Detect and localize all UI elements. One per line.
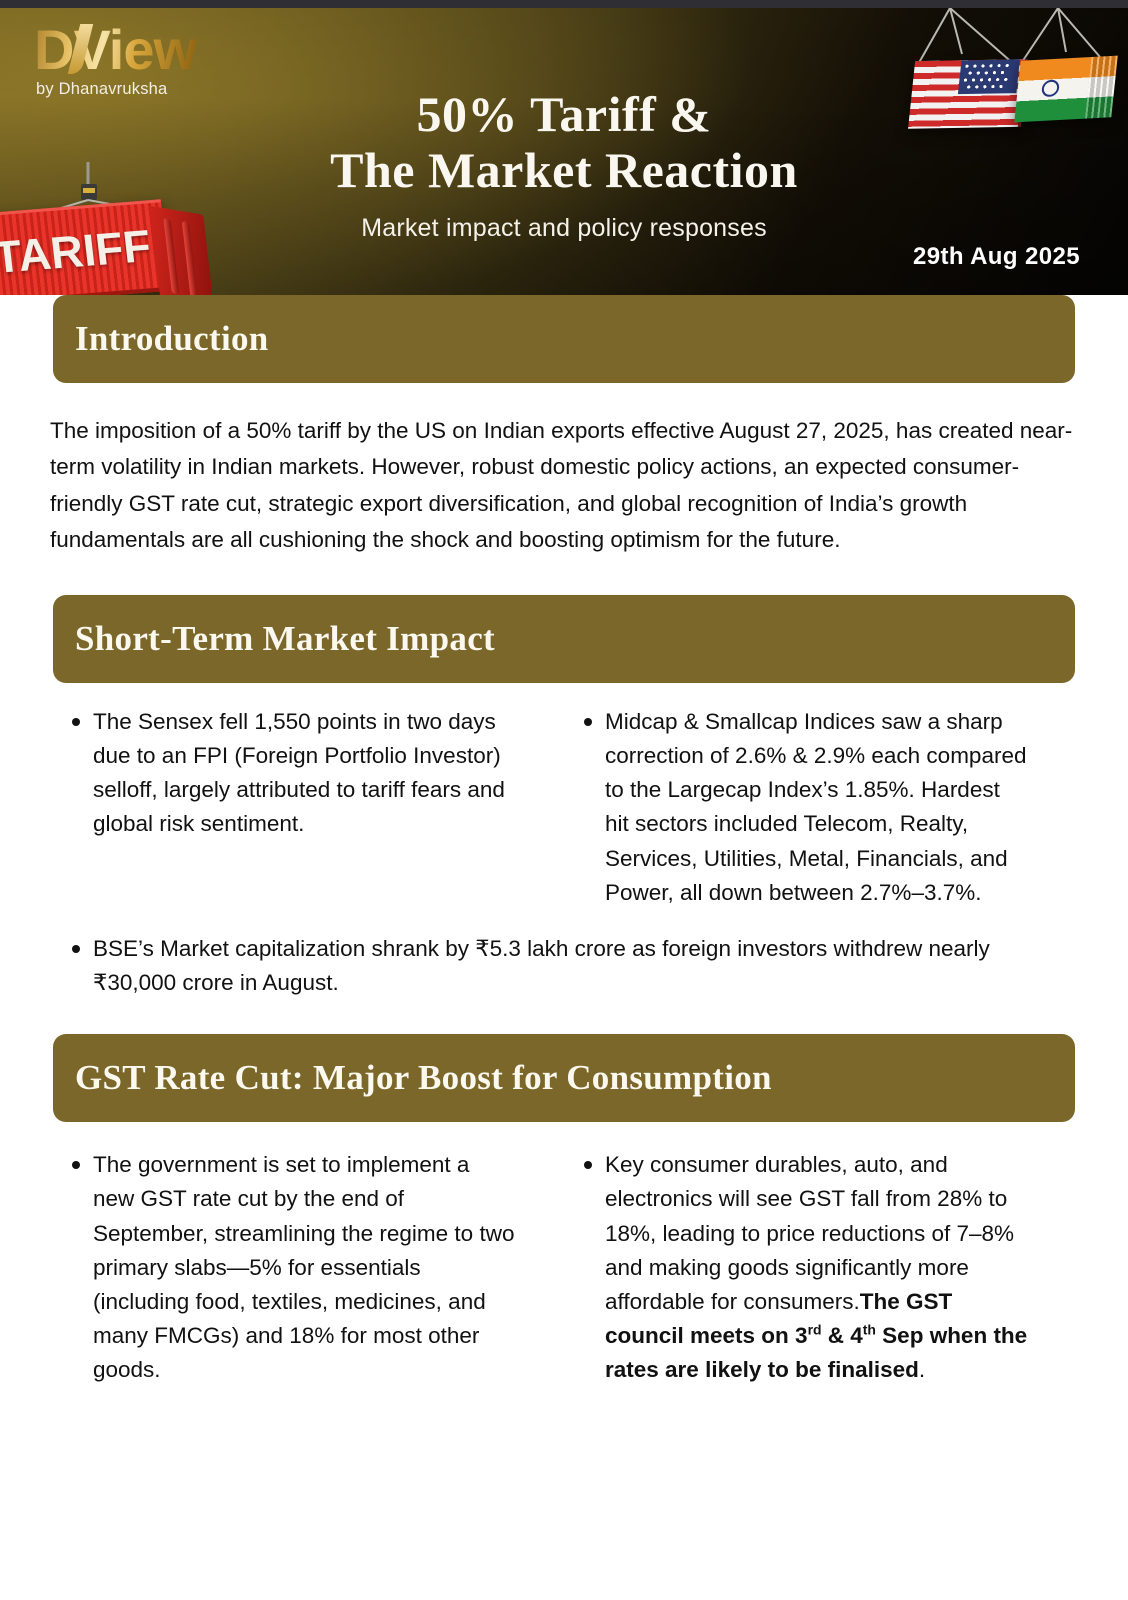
gst-column-right: Key consumer durables, auto, and electro… xyxy=(562,1148,1028,1391)
section-header-short-term-impact: Short-Term Market Impact xyxy=(53,595,1075,683)
gst-bullets-left: The government is set to implement a new… xyxy=(50,1148,516,1387)
list-item: The Sensex fell 1,550 points in two days… xyxy=(50,705,516,842)
short-term-bullet-wide: BSE’s Market capitalization shrank by ₹5… xyxy=(50,932,1078,1000)
header-banner: DView by Dhanavruksha TARIFF xyxy=(0,8,1128,295)
brand-logo[interactable]: DView by Dhanavruksha xyxy=(22,22,252,99)
gst-right-tail: . xyxy=(919,1357,925,1382)
newsletter-page: DView by Dhanavruksha TARIFF xyxy=(0,0,1128,1600)
header-subtitle: Market impact and policy responses xyxy=(0,214,1128,243)
short-term-columns: The Sensex fell 1,550 points in two days… xyxy=(50,705,1078,914)
list-item: BSE’s Market capitalization shrank by ₹5… xyxy=(50,932,1078,1000)
section-header-introduction: Introduction xyxy=(53,295,1075,383)
gst-columns: The government is set to implement a new… xyxy=(50,1148,1078,1391)
gst-bullets-right: Key consumer durables, auto, and electro… xyxy=(562,1148,1028,1387)
gst-right-sup-a: rd xyxy=(808,1322,822,1338)
publication-date: 29th Aug 2025 xyxy=(913,243,1080,271)
short-term-bullets-right: Midcap & Smallcap Indices saw a sharp co… xyxy=(562,705,1028,910)
gst-right-plain-text: Key consumer durables, auto, and electro… xyxy=(605,1152,1014,1314)
list-item: Midcap & Smallcap Indices saw a sharp co… xyxy=(562,705,1028,910)
section-title-introduction: Introduction xyxy=(75,319,269,359)
section-title-gst-rate-cut: GST Rate Cut: Major Boost for Consumptio… xyxy=(75,1058,772,1098)
document-body: Introduction The imposition of a 50% tar… xyxy=(0,295,1128,1392)
introduction-paragraph: The imposition of a 50% tariff by the US… xyxy=(50,413,1078,559)
top-dark-strip xyxy=(0,0,1128,8)
title-line-2: The Market Reaction xyxy=(0,142,1128,198)
short-term-column-left: The Sensex fell 1,550 points in two days… xyxy=(50,705,516,914)
short-term-bullets-left: The Sensex fell 1,550 points in two days… xyxy=(50,705,516,842)
gst-column-left: The government is set to implement a new… xyxy=(50,1148,516,1391)
logo-tagline: by Dhanavruksha xyxy=(22,80,252,99)
section-title-short-term-impact: Short-Term Market Impact xyxy=(75,619,495,659)
header-title-block: 50% Tariff & The Market Reaction Market … xyxy=(0,86,1128,243)
logo-wordmark: DView xyxy=(22,22,196,78)
list-item: Key consumer durables, auto, and electro… xyxy=(562,1148,1028,1387)
gst-right-bold-b: & 4 xyxy=(822,1323,863,1348)
section-header-gst-rate-cut: GST Rate Cut: Major Boost for Consumptio… xyxy=(53,1034,1075,1122)
list-item: The government is set to implement a new… xyxy=(50,1148,516,1387)
gst-right-sup-b: th xyxy=(863,1322,876,1338)
short-term-column-right: Midcap & Smallcap Indices saw a sharp co… xyxy=(562,705,1028,914)
